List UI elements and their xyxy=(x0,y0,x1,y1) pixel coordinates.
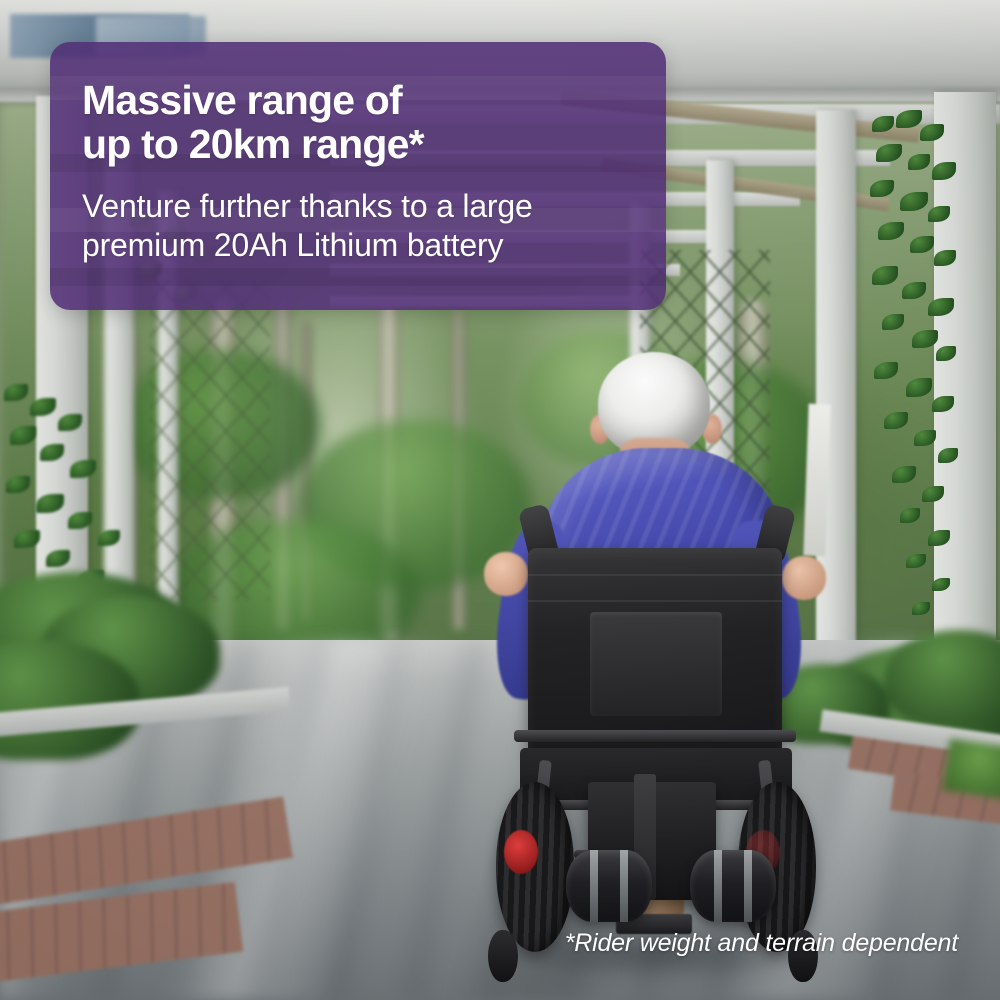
front-castor-wheel xyxy=(488,930,518,982)
climbing-vine xyxy=(866,110,962,670)
motor-ring xyxy=(590,850,598,922)
motor-ring xyxy=(744,850,752,922)
electric-wheelchair-with-rider xyxy=(470,330,850,930)
promo-footnote: *Rider weight and terrain dependent xyxy=(565,929,958,958)
wheelchair-backrest xyxy=(528,548,782,756)
promo-subheadline: Venture further thanks to a large premiu… xyxy=(82,187,636,265)
backrest-seam xyxy=(528,574,782,576)
rider-left-hand xyxy=(484,552,528,596)
wheelchair-frame xyxy=(514,730,796,742)
rider-right-hand xyxy=(782,556,826,600)
promo-text-panel: Massive range of up to 20km range* Ventu… xyxy=(50,42,666,310)
wheel-motor-left xyxy=(566,850,652,922)
wheel-hub-accent xyxy=(504,830,538,874)
panel-shadow-band xyxy=(50,268,666,286)
motor-ring xyxy=(620,850,628,922)
wheel-motor-right xyxy=(690,850,776,922)
backrest-pocket xyxy=(590,612,722,716)
backrest-seam xyxy=(528,600,782,602)
promo-image: Massive range of up to 20km range* Ventu… xyxy=(0,0,1000,1000)
motor-ring xyxy=(714,850,722,922)
promo-headline: Massive range of up to 20km range* xyxy=(82,78,636,167)
